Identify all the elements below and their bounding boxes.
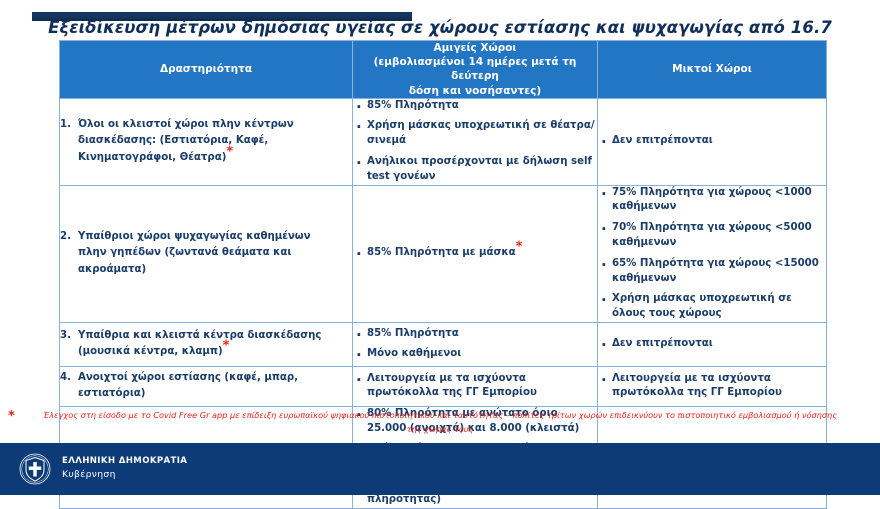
bullet-item: Χρήση μάσκας υποχρεωτική σε όλους τους χ… xyxy=(598,292,826,322)
cell-activity: 2.Υπαίθριοι χώροι ψυχαγωγίας καθημένωνπλ… xyxy=(60,185,353,322)
bullet-list: Λειτουργεία με τα ισχύοντα πρωτόκολλα τη… xyxy=(353,372,597,402)
activity-line: Ανοιχτοί χώροι εστίασης (καφέ, μπαρ, xyxy=(78,370,352,387)
column-header-pure-line3: δόση και νοσήσαντες) xyxy=(353,84,597,98)
footnote-line-2: της χώρας τους xyxy=(14,423,866,437)
bullet-list: 85% Πληρότητα με μάσκα* xyxy=(353,246,597,261)
bullet-item: Ανήλικοι προσέρχονται με δήλωση self tes… xyxy=(353,155,597,185)
bullet-list: Δεν επιτρέπονται xyxy=(598,337,826,352)
bullet-item: 85% Πληρότητα xyxy=(353,327,597,342)
measures-table-wrapper: Δραστηριότητα Αμιγείς Χώροι (εμβολιασμέν… xyxy=(59,40,826,509)
table-row: 2.Υπαίθριοι χώροι ψυχαγωγίας καθημένωνπλ… xyxy=(60,185,827,322)
bullet-list: 85% ΠληρότηταΜόνο καθήμενοι xyxy=(353,327,597,363)
activity-text: Ανοιχτοί χώροι εστίασης (καφέ, μπαρ,εστι… xyxy=(78,370,352,403)
activity-line: πλην γηπέδων (ζωντανά θεάματα και xyxy=(78,245,352,262)
cell-mixed-spaces: Δεν επιτρέπονται xyxy=(598,98,827,185)
footnote: * Έλεγχος στη είσοδο με το Covid Free Gr… xyxy=(0,409,880,436)
cell-mixed-spaces: 75% Πληρότητα για χώρους <1000 καθήμενων… xyxy=(598,185,827,322)
column-header-pure-line2: (εμβολιασμένοι 14 ημέρες μετά τη δεύτερη xyxy=(353,55,597,83)
cell-mixed-spaces: Λειτουργεία με τα ισχύοντα πρωτόκολλα τη… xyxy=(598,366,827,406)
bullet-item: Χρήση μάσκας υποχρεωτική σε θέατρα/σινεμ… xyxy=(353,119,597,149)
bullet-item: Λειτουργεία με τα ισχύοντα πρωτόκολλα τη… xyxy=(353,372,597,402)
page-title: Εξειδίκευση μέτρων δημόσιας υγείας σε χώ… xyxy=(48,18,832,37)
column-header-mixed-spaces: Μικτοί Χώροι xyxy=(598,41,827,99)
table-row: 1.Όλοι οι κλειστοί χώροι πλην κέντρωνδια… xyxy=(60,98,827,185)
cell-activity: 1.Όλοι οι κλειστοί χώροι πλην κέντρωνδια… xyxy=(60,98,353,185)
row-number: 1. xyxy=(60,117,71,167)
table-header: Δραστηριότητα Αμιγείς Χώροι (εμβολιασμέν… xyxy=(60,41,827,99)
activity-line: Υπαίθρια και κλειστά κέντρα διασκέδασης xyxy=(78,328,352,345)
column-header-activity: Δραστηριότητα xyxy=(60,41,353,99)
cell-mixed-spaces: Δεν επιτρέπονται xyxy=(598,322,827,366)
bullet-item: 75% Πληρότητα για χώρους <1000 καθήμενων xyxy=(598,186,826,216)
activity-line: εστιατόρια) xyxy=(78,386,352,403)
table-row: 4.Ανοιχτοί χώροι εστίασης (καφέ, μπαρ,εσ… xyxy=(60,366,827,406)
activity-line: Όλοι οι κλειστοί χώροι πλην κέντρων xyxy=(78,117,352,134)
cell-pure-spaces: 85% ΠληρότηταΜόνο καθήμενοι xyxy=(353,322,598,366)
activity-line: ακροάματα) xyxy=(78,262,352,279)
footnote-asterisk-icon: * xyxy=(8,406,15,427)
row-number: 2. xyxy=(60,229,71,279)
column-header-pure-spaces: Αμιγείς Χώροι (εμβολιασμένοι 14 ημέρες μ… xyxy=(353,41,598,99)
column-header-pure-line1: Αμιγείς Χώροι xyxy=(353,41,597,55)
bullet-item: 70% Πληρότητα για χώρους <5000 καθήμενων xyxy=(598,221,826,251)
activity-line: Κινηματογράφοι, Θέατρα)* xyxy=(78,150,352,167)
footer-bar: ΕΛΛΗΝΙΚΗ ΔΗΜΟΚΡΑΤΙΑ Κυβέρνηση xyxy=(0,443,880,495)
table-row: 3.Υπαίθρια και κλειστά κέντρα διασκέδαση… xyxy=(60,322,827,366)
footnote-asterisk-icon: * xyxy=(516,240,523,255)
government-subtitle: Κυβέρνηση xyxy=(62,469,187,481)
government-wordmark: ΕΛΛΗΝΙΚΗ ΔΗΜΟΚΡΑΤΙΑ Κυβέρνηση xyxy=(62,456,187,481)
bullet-list: Δεν επιτρέπονται xyxy=(598,134,826,149)
row-number: 3. xyxy=(60,328,71,361)
cell-pure-spaces: 85% Πληρότητα με μάσκα* xyxy=(353,185,598,322)
bullet-list: Λειτουργεία με τα ισχύοντα πρωτόκολλα τη… xyxy=(598,372,826,402)
footnote-asterisk-icon: * xyxy=(223,339,230,354)
column-header-mixed-label: Μικτοί Χώροι xyxy=(672,63,752,75)
bullet-item: Δεν επιτρέπονται xyxy=(598,337,826,352)
cell-pure-spaces: Λειτουργεία με τα ισχύοντα πρωτόκολλα τη… xyxy=(353,366,598,406)
footnote-line-1: Έλεγχος στη είσοδο με το Covid Free Gr a… xyxy=(14,409,866,423)
hellenic-republic-crest-icon xyxy=(19,453,51,485)
cell-activity: 4.Ανοιχτοί χώροι εστίασης (καφέ, μπαρ,εσ… xyxy=(60,366,353,406)
bullet-item: 85% Πληρότητα xyxy=(353,99,597,114)
bullet-item: Μόνο καθήμενοι xyxy=(353,347,597,362)
bullet-item: Λειτουργεία με τα ισχύοντα πρωτόκολλα τη… xyxy=(598,372,826,402)
activity-line: Υπαίθριοι χώροι ψυχαγωγίας καθημένων xyxy=(78,229,352,246)
footnote-asterisk-icon: * xyxy=(226,145,233,160)
activity-text: Υπαίθριοι χώροι ψυχαγωγίας καθημένωνπλην… xyxy=(78,229,352,279)
slide-title-band: Εξειδίκευση μέτρων δημόσιας υγείας σε χώ… xyxy=(0,14,880,40)
bullet-item: Δεν επιτρέπονται xyxy=(598,134,826,149)
government-name: ΕΛΛΗΝΙΚΗ ΔΗΜΟΚΡΑΤΙΑ xyxy=(62,456,187,468)
row-number: 4. xyxy=(60,370,71,403)
measures-table: Δραστηριότητα Αμιγείς Χώροι (εμβολιασμέν… xyxy=(59,40,827,509)
bullet-item: 85% Πληρότητα με μάσκα* xyxy=(353,246,597,261)
activity-text: Υπαίθρια και κλειστά κέντρα διασκέδασης(… xyxy=(78,328,352,361)
activity-line: διασκέδασης: (Εστιατόρια, Καφέ, xyxy=(78,133,352,150)
cell-pure-spaces: 85% ΠληρότηταΧρήση μάσκας υποχρεωτική σε… xyxy=(353,98,598,185)
bullet-list: 85% ΠληρότηταΧρήση μάσκας υποχρεωτική σε… xyxy=(353,99,597,185)
bullet-list: 75% Πληρότητα για χώρους <1000 καθήμενων… xyxy=(598,186,826,322)
activity-line: (μουσικά κέντρα, κλαμπ)* xyxy=(78,344,352,361)
cell-activity: 3.Υπαίθρια και κλειστά κέντρα διασκέδαση… xyxy=(60,322,353,366)
column-header-activity-label: Δραστηριότητα xyxy=(160,63,252,75)
bullet-item: 65% Πληρότητα για χώρους <15000 καθήμενω… xyxy=(598,257,826,287)
activity-text: Όλοι οι κλειστοί χώροι πλην κέντρωνδιασκ… xyxy=(78,117,352,167)
table-header-row: Δραστηριότητα Αμιγείς Χώροι (εμβολιασμέν… xyxy=(60,41,827,99)
